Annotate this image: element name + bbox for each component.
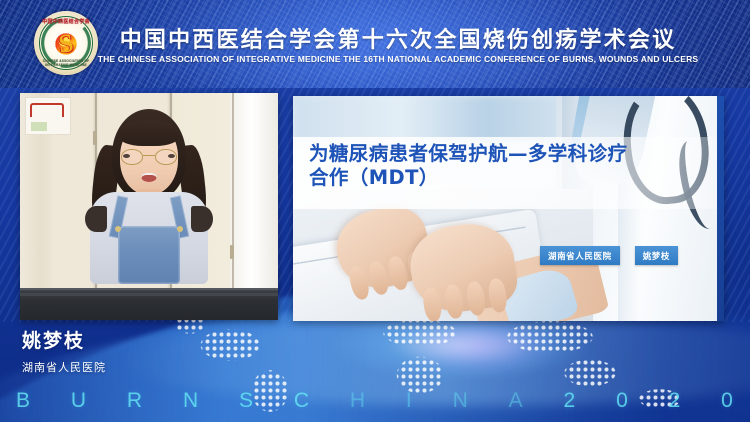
glasses-bridge <box>143 155 155 156</box>
overall-buckle-left <box>115 226 121 232</box>
conference-title-cn: 中国中西医结合学会第十六次全国烧伤创疡学术会议 <box>0 22 750 54</box>
slide-badge-group: 湖南省人民医院 姚梦枝 <box>540 246 678 265</box>
speaker-glasses-icon <box>121 149 177 165</box>
slide-right-accent-strip <box>717 96 724 321</box>
slide-badge-presenter: 姚梦枝 <box>635 246 678 265</box>
slide-badge-institution: 湖南省人民医院 <box>540 246 620 265</box>
speaker-mouth <box>142 173 157 182</box>
slide-title-line-2: 合作（MDT） <box>309 166 709 190</box>
slide-title-line-1: 为糖尿病患者保驾护航—多学科诊疗 <box>309 142 709 166</box>
webinar-stage: 中国中西医结合学会 S CHINESE ASSOCIATION OF INTEG… <box>0 0 750 422</box>
denim-overall-bib <box>118 226 180 284</box>
conference-header-banner: 中国中西医结合学会 S CHINESE ASSOCIATION OF INTEG… <box>0 0 750 88</box>
foreground-monitor <box>20 288 278 320</box>
speaker-affiliation: 湖南省人民医院 <box>22 359 106 375</box>
overall-buckle-right <box>177 226 183 232</box>
speaker-nameplate: 姚梦枝 湖南省人民医院 <box>22 326 106 375</box>
video-wall-hinge-4 <box>230 245 234 259</box>
monitor-edge-highlight <box>20 293 278 296</box>
poster-red-shape <box>30 103 64 117</box>
speaker-video-panel[interactable] <box>20 93 278 320</box>
glasses-lens-left <box>121 149 143 165</box>
wall-poster <box>25 97 71 135</box>
poster-green-shape <box>31 122 47 131</box>
speaker-shoulder-left <box>85 206 107 232</box>
slide-title: 为糖尿病患者保驾护航—多学科诊疗 合作（MDT） <box>309 142 709 190</box>
presentation-slide-panel[interactable]: 为糖尿病患者保驾护航—多学科诊疗 合作（MDT） 湖南省人民医院 姚梦枝 <box>293 96 724 321</box>
glasses-lens-right <box>155 149 177 165</box>
speaker-bangs <box>118 120 180 146</box>
speaker-name: 姚梦枝 <box>22 326 106 353</box>
speaker-shoulder-right <box>191 206 213 232</box>
speaker-figure <box>79 109 219 284</box>
video-background-wall-right <box>230 93 278 320</box>
video-wall-seam-3 <box>232 93 234 320</box>
conference-subtitle-en: THE CHINESE ASSOCIATION OF INTEGRATIVE M… <box>0 54 750 64</box>
